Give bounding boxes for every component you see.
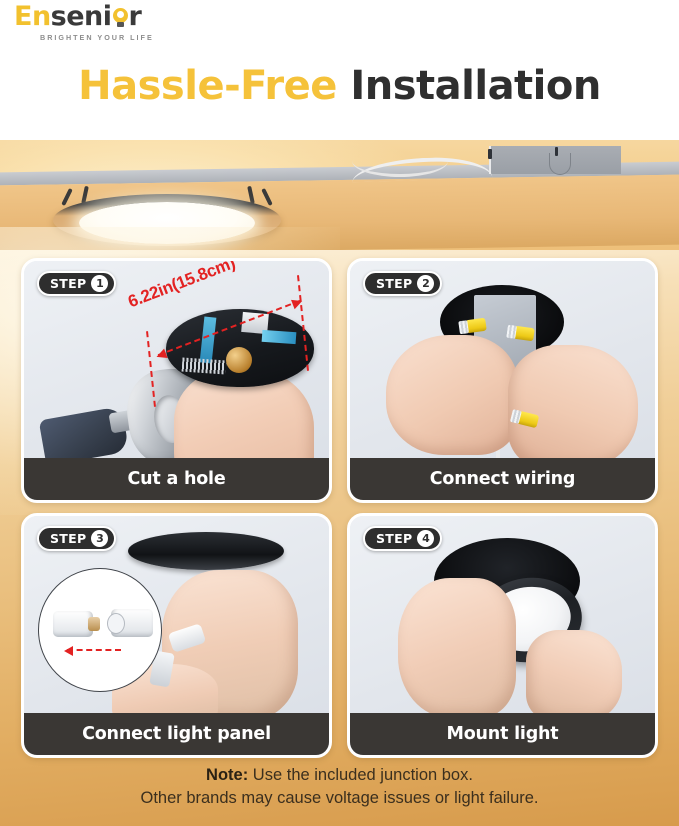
lightbulb-icon bbox=[112, 8, 129, 27]
note-label: Note: bbox=[206, 766, 248, 784]
fixture-medallion bbox=[226, 347, 252, 373]
junction-box-screw bbox=[555, 147, 558, 156]
step-caption-bar-2: Connect wiring bbox=[350, 458, 655, 500]
fixture-label-band bbox=[262, 330, 297, 344]
wire-nut-icon bbox=[513, 326, 535, 342]
step-caption-text: Connect wiring bbox=[430, 469, 575, 489]
connector-detail-circle bbox=[38, 568, 162, 692]
note-line-1-text: Use the included junction box. bbox=[248, 766, 473, 784]
step-caption-text: Cut a hole bbox=[127, 469, 225, 489]
logo-suffix-text: r bbox=[129, 4, 142, 30]
brand-tagline: BRIGHTEN YOUR LIFE bbox=[40, 33, 184, 42]
page-title-highlight: Hassle-Free bbox=[78, 63, 337, 109]
step-caption-bar-4: Mount light bbox=[350, 713, 655, 755]
logo-prefix-text: En bbox=[14, 4, 51, 30]
step-badge-number: 2 bbox=[417, 275, 434, 292]
step-badge-number: 4 bbox=[417, 530, 434, 547]
connect-direction-arrow bbox=[67, 649, 121, 651]
step-badge-number: 1 bbox=[91, 275, 108, 292]
note-line-2: Other brands may cause voltage issues or… bbox=[0, 787, 679, 810]
step-caption-text: Mount light bbox=[447, 724, 559, 744]
logo-mark: Ensenir bbox=[14, 4, 184, 30]
junction-box bbox=[489, 146, 621, 174]
step-badge-2: STEP 2 bbox=[363, 271, 442, 296]
wire-nut-icon bbox=[465, 318, 487, 334]
step-badge-4: STEP 4 bbox=[363, 526, 442, 551]
male-connector-icon bbox=[53, 611, 93, 637]
note-line-1: Note: Use the included junction box. bbox=[0, 764, 679, 787]
step-badge-number: 3 bbox=[91, 530, 108, 547]
step-caption-bar-3: Connect light panel bbox=[24, 713, 329, 755]
junction-box-knockout bbox=[549, 153, 571, 175]
step-card-1[interactable]: 6.22in(15.8cm) STEP 1 Cut a hole bbox=[21, 258, 332, 503]
logo-mid-text: seni bbox=[51, 4, 112, 30]
step-badge-label: STEP bbox=[50, 531, 86, 546]
right-hand bbox=[526, 630, 622, 722]
page-title: Hassle-Free Installation bbox=[0, 62, 679, 110]
step-badge-3: STEP 3 bbox=[37, 526, 116, 551]
step-card-4[interactable]: STEP 4 Mount light bbox=[347, 513, 658, 758]
female-connector-icon bbox=[111, 609, 153, 637]
steps-grid: 6.22in(15.8cm) STEP 1 Cut a hole bbox=[21, 258, 658, 758]
fixture-label-strip bbox=[200, 316, 217, 363]
step-badge-label: STEP bbox=[376, 276, 412, 291]
page-title-rest: Installation bbox=[350, 63, 600, 109]
step-card-2[interactable]: STEP 2 Connect wiring bbox=[347, 258, 658, 503]
step-card-3[interactable]: STEP 3 Connect light panel bbox=[21, 513, 332, 758]
step-badge-label: STEP bbox=[50, 276, 86, 291]
left-hand bbox=[386, 335, 518, 455]
right-hand bbox=[508, 345, 638, 469]
light-fixture-back bbox=[166, 309, 314, 387]
step-badge-1: STEP 1 bbox=[37, 271, 116, 296]
header: Ensenir BRIGHTEN YOUR LIFE Hassle-Free I… bbox=[0, 0, 679, 140]
junction-box-clip bbox=[488, 149, 492, 159]
footer-note: Note: Use the included junction box. Oth… bbox=[0, 764, 679, 810]
left-hand bbox=[398, 578, 516, 718]
mounting-spring bbox=[61, 188, 72, 206]
light-panel-disc bbox=[128, 532, 284, 570]
step-badge-label: STEP bbox=[376, 531, 412, 546]
brand-logo: Ensenir BRIGHTEN YOUR LIFE bbox=[14, 4, 184, 46]
fixture-barcode bbox=[182, 357, 227, 374]
step-caption-bar-1: Cut a hole bbox=[24, 458, 329, 500]
infographic-page: Ensenir BRIGHTEN YOUR LIFE Hassle-Free I… bbox=[0, 0, 679, 826]
dimension-label: 6.22in(15.8cm) bbox=[125, 258, 238, 312]
mounting-spring bbox=[261, 188, 272, 206]
step-caption-text: Connect light panel bbox=[82, 724, 271, 744]
